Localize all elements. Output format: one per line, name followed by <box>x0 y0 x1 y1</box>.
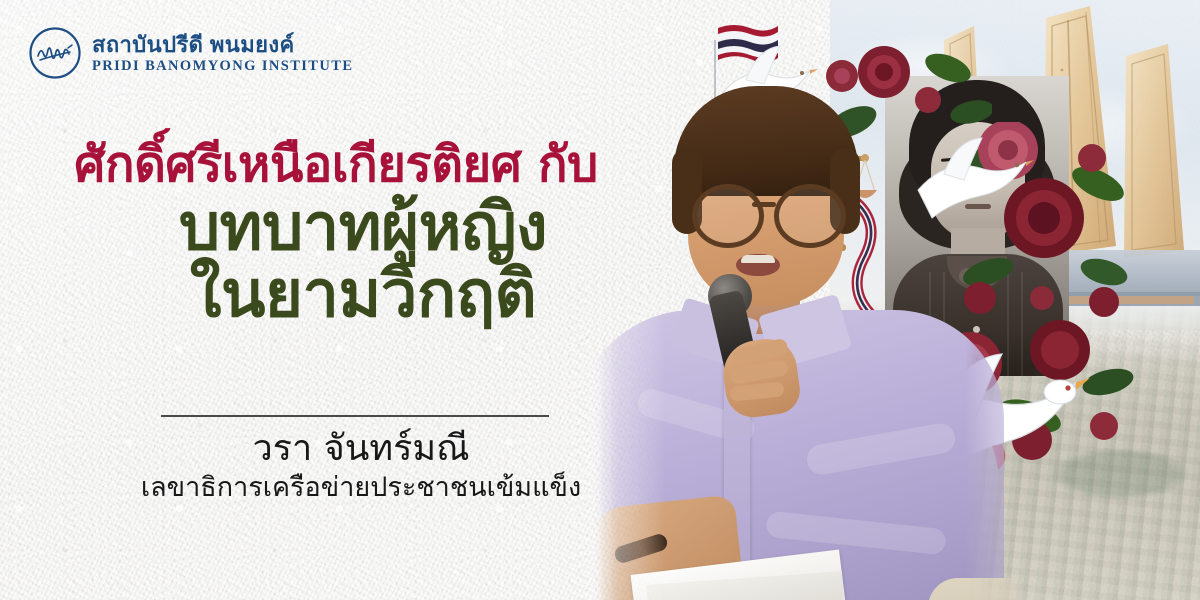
speaker-name: วรา จันทร์มณี <box>62 428 660 470</box>
divider-rule <box>161 415 549 417</box>
chair <box>928 578 1026 600</box>
speaker-role: เลขาธิการเครือข่ายประชาชนเข้มแข็ง <box>62 472 660 504</box>
eyeglasses-right-lens <box>774 184 846 248</box>
logo-english-name: PRIDI BANOMYONG INSTITUTE <box>92 59 353 74</box>
main-speaker-photo <box>596 72 1026 600</box>
pridi-signature-emblem-icon <box>28 26 82 80</box>
headline-line-1: ศักดิ์ศรีเหนือเกียรติยศ กับ <box>12 140 660 189</box>
institute-logo[interactable]: สถาบันปรีดี พนมยงค์ PRIDI BANOMYONG INST… <box>28 26 353 80</box>
speaker-block: วรา จันทร์มณี เลขาธิการเครือข่ายประชาชนเ… <box>0 428 660 504</box>
logo-thai-name: สถาบันปรีดี พนมยงค์ <box>92 34 353 56</box>
headline-line-3: ในยามวิกฤติ <box>66 262 660 328</box>
event-banner: สถาบันปรีดี พนมยงค์ PRIDI BANOMYONG INST… <box>0 0 1200 600</box>
eyeglasses-left-lens <box>692 184 764 248</box>
headline-block: ศักดิ์ศรีเหนือเกียรติยศ กับ บทบาทผู้หญิง… <box>0 140 660 329</box>
headline-line-2: บทบาทผู้หญิง <box>66 195 660 261</box>
